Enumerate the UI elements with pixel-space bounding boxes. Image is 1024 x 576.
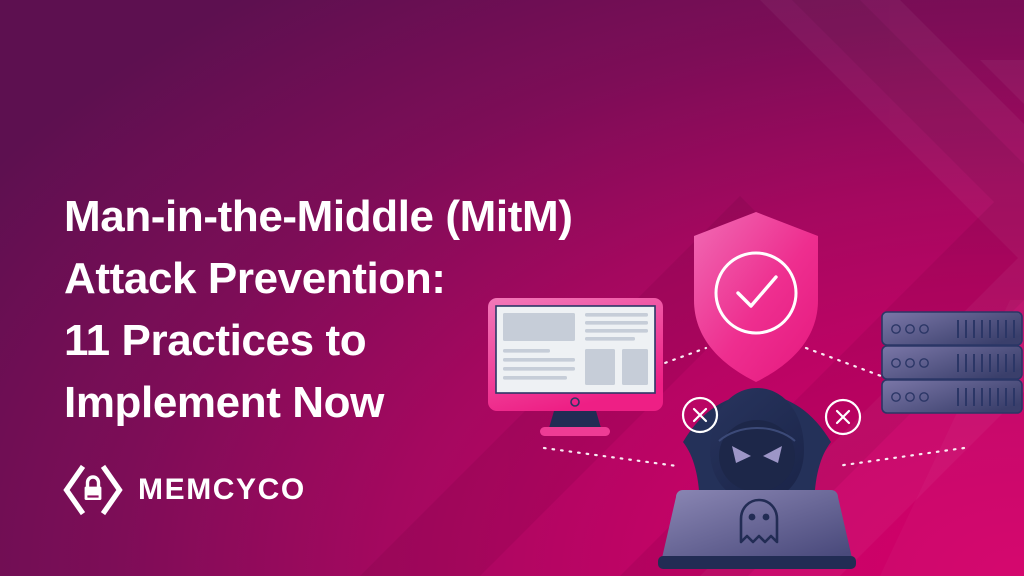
connector-monitor-attacker [544,448,677,466]
headline-line-1: Man-in-the-Middle (MitM) [64,186,704,248]
server-unit [882,312,1022,345]
laptop-base [658,556,856,569]
shield-check-icon [694,212,818,382]
banner-root: Man-in-the-Middle (MitM) Attack Preventi… [0,0,1024,576]
connector-server-attacker [837,448,964,466]
server-unit [882,346,1022,379]
page-title: Man-in-the-Middle (MitM) Attack Preventi… [64,186,704,434]
laptop-ghost-icon [658,490,856,569]
headline-line-4: Implement Now [64,372,704,434]
server-unit [882,380,1022,413]
headline-line-3: 11 Practices to [64,310,704,372]
x-circle-icon [826,400,860,434]
headline-line-2: Attack Prevention: [64,248,704,310]
brand-wordmark: MEMCYCO [138,475,306,505]
brand-logo: MEMCYCO [62,461,306,519]
hacker-face-shadow [719,420,795,492]
server-rack-icon [882,312,1022,413]
padlock-icon [85,477,102,500]
lock-in-brackets-icon [62,461,124,519]
